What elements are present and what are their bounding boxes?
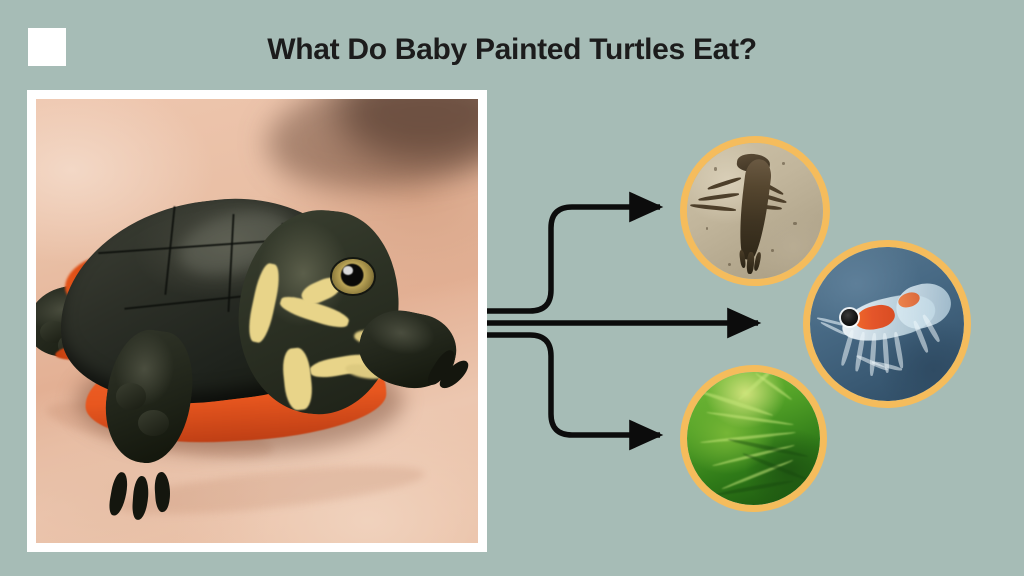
turtle-claw <box>107 471 130 517</box>
sand-speck <box>771 249 774 252</box>
krill-eye <box>841 309 858 326</box>
algae-image <box>687 372 820 505</box>
insect-larvae-thumbnail[interactable] <box>680 136 830 286</box>
turtle-claw <box>132 476 151 521</box>
sand-speck <box>782 162 785 165</box>
slide-canvas: What Do Baby Painted Turtles Eat? <box>0 0 1024 576</box>
page-title: What Do Baby Painted Turtles Eat? <box>0 30 1024 70</box>
turtle-illustration <box>36 99 478 543</box>
krill-image <box>810 247 964 401</box>
algae-thumbnail[interactable] <box>680 365 827 512</box>
turtle-photo-frame <box>27 90 487 552</box>
sand-speck <box>793 222 797 226</box>
krill-thumbnail[interactable] <box>803 240 971 408</box>
turtle-eye-glint <box>343 266 354 275</box>
turtle-toe <box>138 410 169 437</box>
turtle-claw <box>154 471 172 512</box>
insect-larvae-image <box>687 143 823 279</box>
turtle-toe <box>116 383 147 410</box>
turtle-photo <box>36 99 478 543</box>
sand-speck <box>728 263 731 266</box>
